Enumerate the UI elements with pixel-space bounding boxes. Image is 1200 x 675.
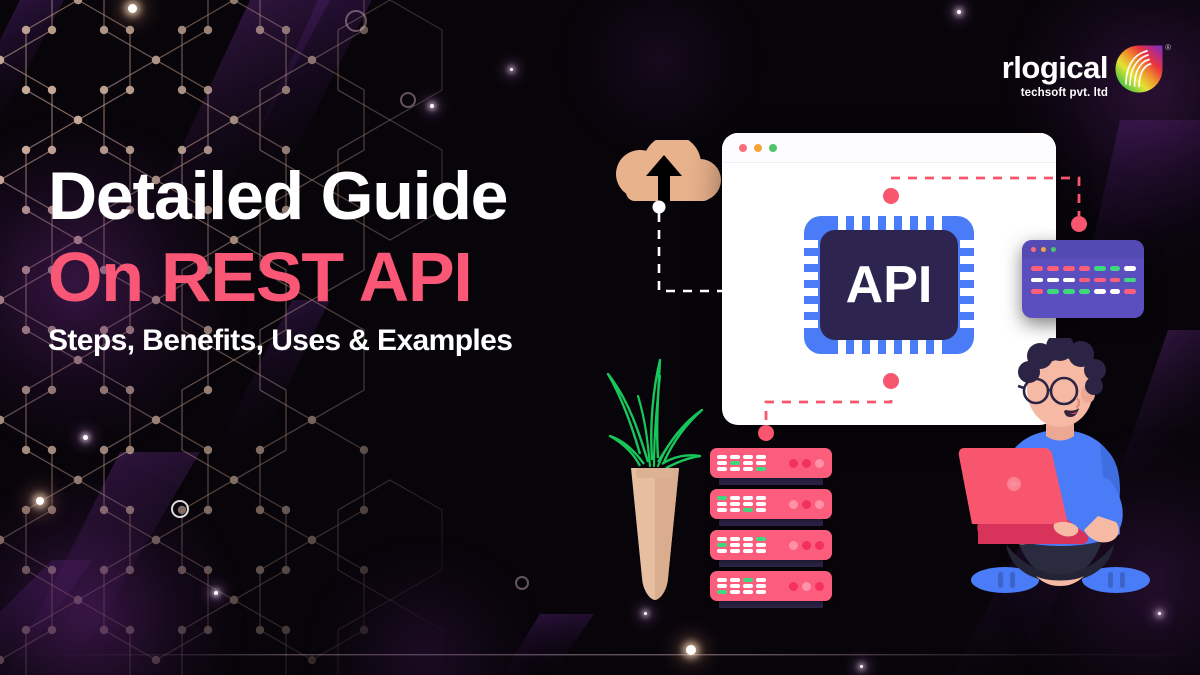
star-glow <box>128 4 137 13</box>
headline-subtitle: Steps, Benefits, Uses & Examples <box>48 324 648 358</box>
code-panel-rows <box>1022 259 1144 294</box>
server-leds <box>717 455 766 471</box>
code-row <box>1031 278 1136 283</box>
rack-divider <box>719 560 823 567</box>
brand-logo-text: rlogical techsoft pvt. ltd <box>1002 28 1108 99</box>
api-chip-label: API <box>846 256 933 314</box>
code-snippet-panel[interactable] <box>1022 240 1144 318</box>
server-indicators <box>789 541 824 550</box>
server-unit <box>710 448 832 478</box>
brand-wordmark: rlogical <box>1002 52 1108 83</box>
star-glow <box>36 497 44 505</box>
headline-line-1: Detailed Guide <box>48 163 648 230</box>
server-indicators <box>789 459 824 468</box>
rack-divider <box>719 601 823 608</box>
code-row <box>1031 289 1136 294</box>
star-glow <box>430 104 434 108</box>
code-panel-titlebar <box>1022 240 1144 259</box>
ring-accent <box>345 10 367 32</box>
star-glow <box>686 645 696 655</box>
minimize-traffic-light-icon[interactable] <box>754 144 762 152</box>
potted-plant <box>596 350 714 606</box>
headline-block: Detailed Guide On REST API Steps, Benefi… <box>48 163 648 358</box>
rest-api-banner: Detailed Guide On REST API Steps, Benefi… <box>0 0 1200 675</box>
rack-divider <box>719 478 823 485</box>
registered-trademark-icon: ® <box>1165 43 1171 52</box>
server-unit <box>710 571 832 601</box>
ring-accent <box>400 92 416 108</box>
star-glow <box>957 10 961 14</box>
server-indicators <box>789 500 824 509</box>
maximize-traffic-light-icon[interactable] <box>769 144 777 152</box>
server-rack <box>710 448 832 612</box>
star-glow <box>1158 612 1161 615</box>
server-leds <box>717 537 766 553</box>
star-glow <box>214 591 218 595</box>
browser-titlebar <box>722 133 1056 163</box>
star-glow <box>510 68 513 71</box>
developer-with-laptop <box>948 338 1172 600</box>
close-traffic-light-icon[interactable] <box>739 144 747 152</box>
server-unit <box>710 530 832 560</box>
ring-accent <box>515 576 529 590</box>
brand-logo[interactable]: rlogical techsoft pvt. ltd ® <box>1002 28 1164 99</box>
star-glow <box>860 665 863 668</box>
star-glow <box>644 612 647 615</box>
connector-node <box>1071 216 1087 232</box>
code-row <box>1031 266 1136 271</box>
minimize-traffic-light-icon[interactable] <box>1041 247 1046 252</box>
close-traffic-light-icon[interactable] <box>1031 247 1036 252</box>
server-unit <box>710 489 832 519</box>
maximize-traffic-light-icon[interactable] <box>1051 247 1056 252</box>
star-glow <box>83 435 88 440</box>
connector-node <box>758 425 774 441</box>
rack-divider <box>719 519 823 526</box>
server-leds <box>717 578 766 594</box>
brand-tagline: techsoft pvt. ltd <box>1002 87 1108 99</box>
rainbow-leaf-icon: ® <box>1114 44 1164 94</box>
server-leds <box>717 496 766 512</box>
headline-line-2: On REST API <box>48 242 648 312</box>
ring-accent <box>171 500 189 518</box>
server-indicators <box>789 582 824 591</box>
